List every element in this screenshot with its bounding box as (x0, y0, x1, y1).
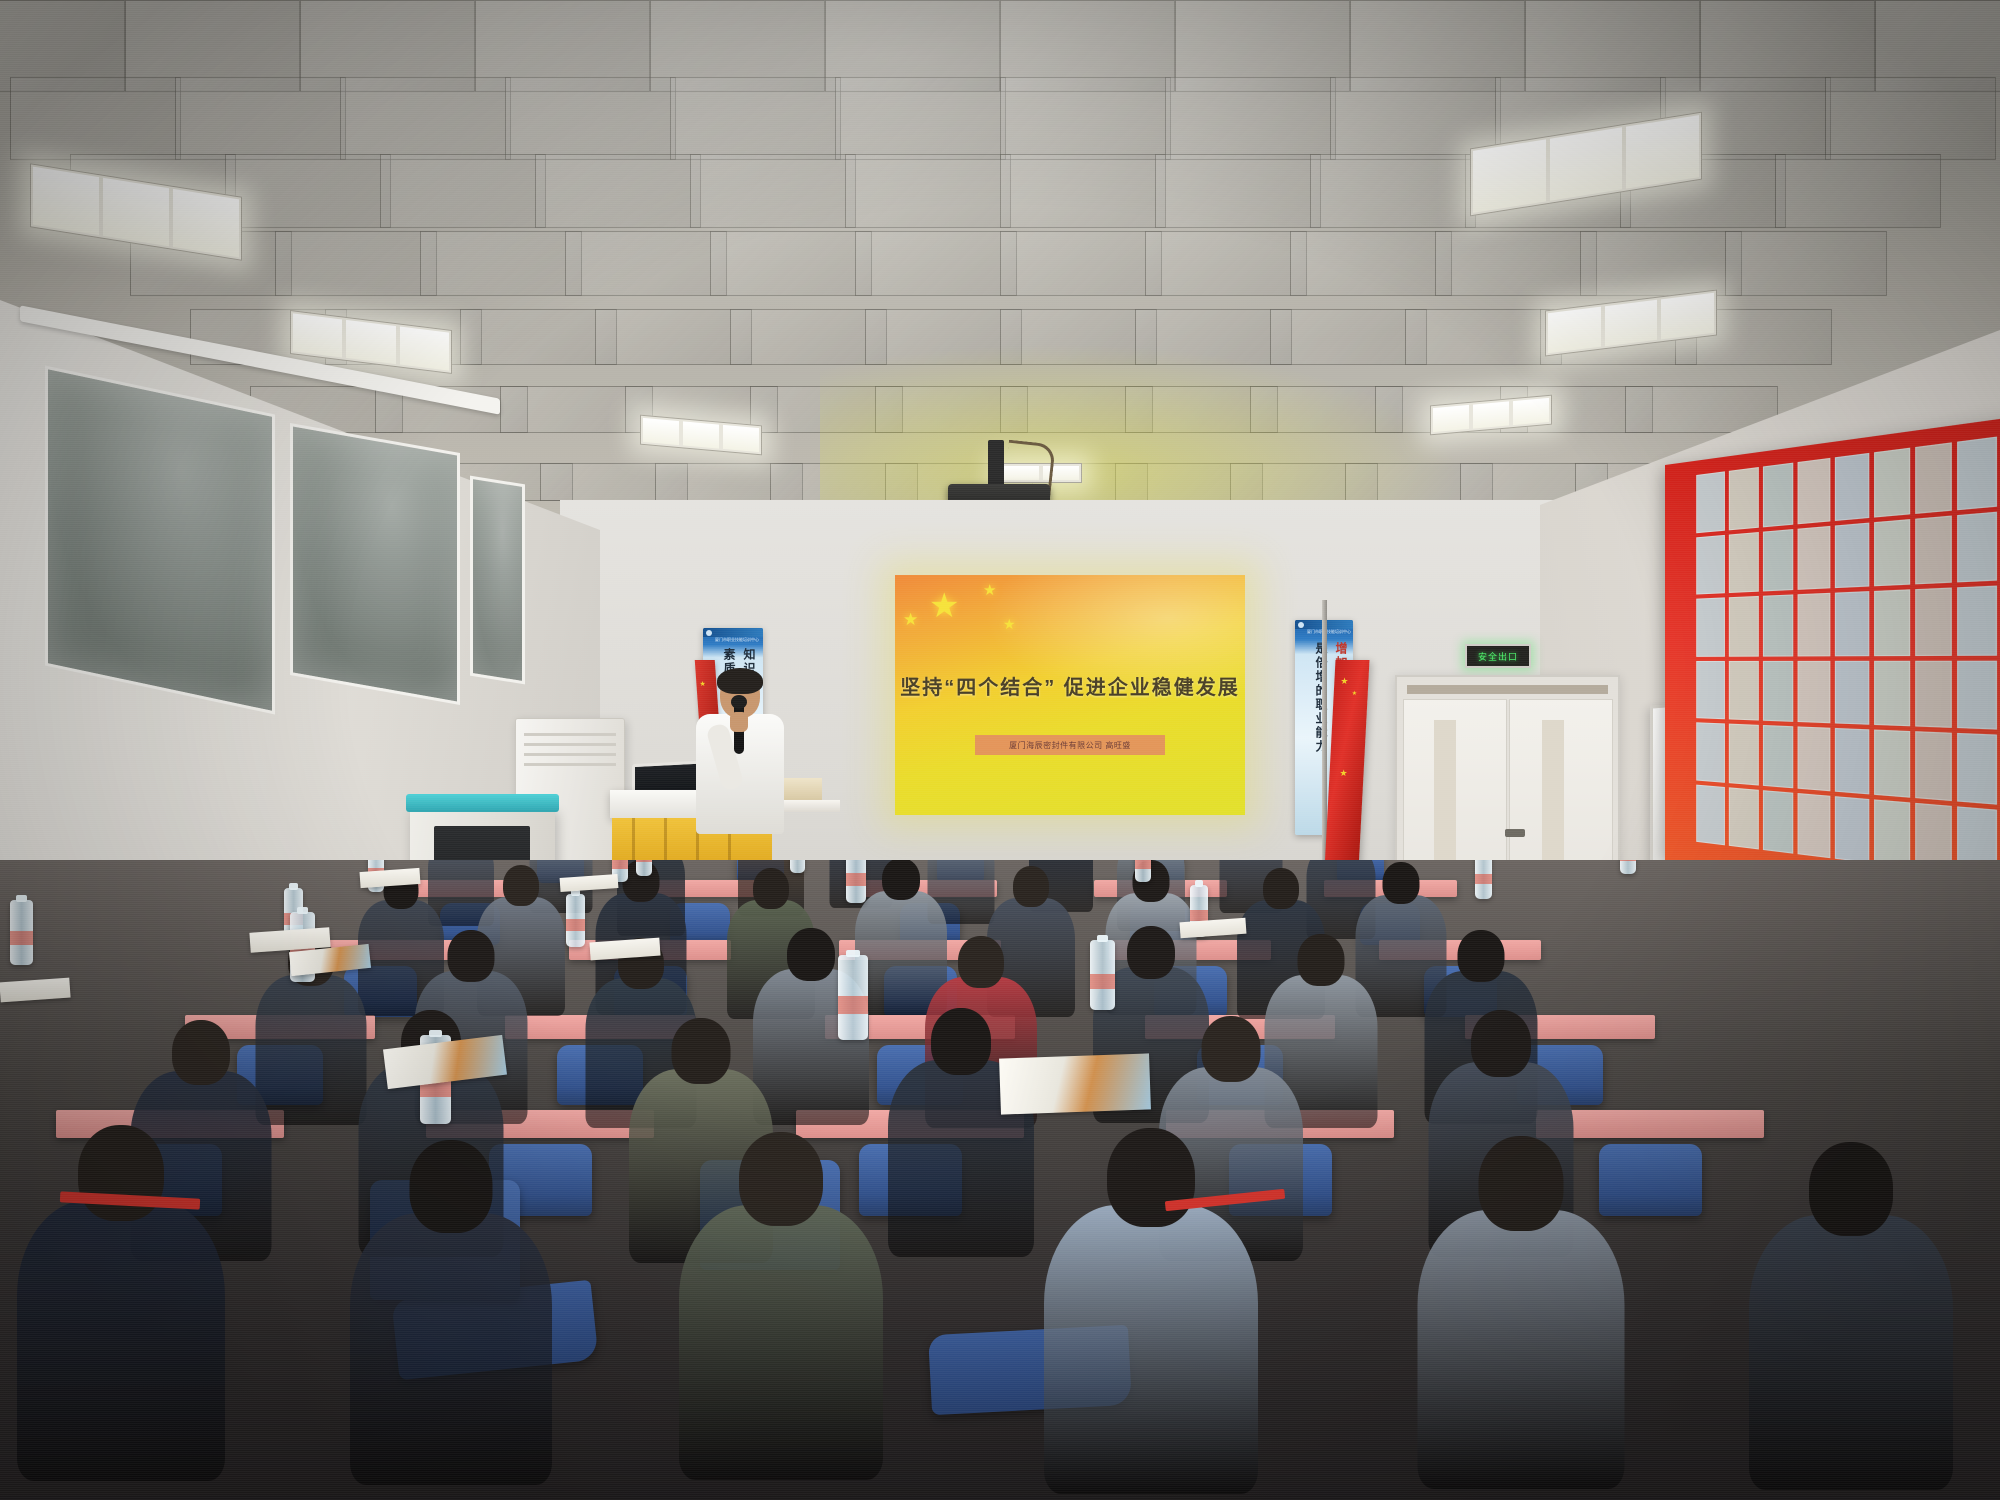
audience-member (1480, 930, 1481, 931)
audience-member (700, 1018, 701, 1019)
ceiling-tile (1165, 77, 1336, 160)
audience-torso (350, 1213, 552, 1485)
photo-cell (1762, 528, 1793, 591)
flag-star-icon: ★ (983, 583, 996, 598)
audience-head (1127, 926, 1175, 979)
ceiling-tile (175, 77, 346, 160)
ceiling-tile (1435, 231, 1597, 296)
audience-torso (17, 1200, 225, 1481)
audience-member (1320, 934, 1321, 935)
photo-cell (1762, 594, 1793, 656)
audience-head (931, 1008, 991, 1075)
ceiling-tile (505, 77, 676, 160)
audience-head (882, 860, 920, 900)
ceiling-tile (835, 77, 1006, 160)
audience-torso (1044, 1205, 1258, 1494)
photo-cell (1696, 471, 1724, 532)
audience-member (430, 1010, 431, 1011)
tablet-arm-chair[interactable] (1599, 1144, 1702, 1216)
ceiling-tile (1000, 77, 1171, 160)
exit-sign: 安全出口 (1465, 644, 1531, 668)
photo-cell (1958, 586, 1998, 656)
banner-logo-icon (706, 630, 712, 636)
ceiling-tile (1270, 309, 1427, 365)
audience-member (1230, 1016, 1231, 1017)
ceiling-tile (1725, 231, 1887, 296)
audience-member (960, 1008, 961, 1009)
ceiling-tile (225, 154, 391, 228)
photo-cell (1835, 660, 1869, 725)
audience-head (1809, 1142, 1893, 1236)
water-bottle[interactable] (790, 860, 805, 873)
presenter-hair (717, 668, 763, 694)
banner-left-header: 厦门市职业技能培训中心 (703, 628, 763, 637)
flag-star-icon: ★ (1352, 690, 1358, 697)
photo-cell (1798, 525, 1831, 590)
ceiling-tile (1135, 309, 1292, 365)
audience-head (958, 936, 1004, 988)
photo-cell (1958, 733, 1998, 804)
dispenser-top-cover (406, 794, 559, 812)
roller-blind[interactable] (45, 366, 275, 715)
photo-cell (1762, 725, 1793, 788)
audience-seating-area (0, 860, 2000, 1500)
handout-paper[interactable] (560, 874, 619, 892)
slide-subtitle-bar: 厦门海辰密封件有限公司 高旺盛 (975, 735, 1165, 755)
audience-member (1400, 862, 1401, 863)
photo-cell (1696, 534, 1724, 594)
water-bottle[interactable] (636, 860, 652, 876)
ceiling-tile (845, 154, 1011, 228)
photo-cell (1835, 522, 1869, 588)
photo-cell (1798, 726, 1831, 790)
photo-cell (1696, 597, 1724, 656)
audience-member (1850, 1142, 1851, 1143)
ceiling-tile (670, 77, 841, 160)
audience-head (753, 868, 789, 909)
audience-member (1030, 866, 1031, 867)
banner-left-header-text: 厦门市职业技能培训中心 (715, 635, 759, 644)
flag-star-icon: ★ (929, 589, 959, 623)
ceiling-tile (340, 77, 511, 160)
audience-member (450, 1140, 451, 1141)
flag-star-icon: ★ (1340, 676, 1349, 687)
photo-cell (1915, 587, 1953, 655)
audience-member (810, 928, 811, 929)
photo-cell (1958, 660, 1998, 730)
photo-cell (1696, 784, 1724, 845)
presenter-hand (730, 712, 748, 732)
photo-cell (1729, 787, 1759, 850)
door-handle[interactable] (1505, 829, 1525, 837)
slide-subtitle: 厦门海辰密封件有限公司 高旺盛 (1009, 740, 1131, 751)
photo-cell (1874, 519, 1910, 587)
photo-cell (1958, 511, 1998, 582)
photo-cell (1874, 799, 1910, 868)
photo-cell (1798, 793, 1831, 859)
photo-cell (1729, 660, 1759, 720)
audience-head (1107, 1128, 1195, 1227)
photo-cell (1835, 796, 1869, 863)
ceiling-tile (1310, 154, 1476, 228)
audience-head (787, 928, 835, 981)
photo-cell (1874, 730, 1910, 798)
audience-head (1457, 930, 1504, 982)
audience-member (1150, 1128, 1151, 1129)
ceiling-tile (1580, 231, 1742, 296)
audience-head (1382, 862, 1419, 904)
photo-cell (1798, 593, 1831, 656)
audience-member (470, 930, 471, 931)
audience-head (1478, 1136, 1563, 1231)
audience-head (1297, 934, 1344, 986)
audience-head (1263, 868, 1299, 909)
audience-torso (255, 975, 366, 1125)
flag-star-icon: ★ (1339, 768, 1348, 779)
ceiling-tile (275, 231, 437, 296)
presenter (690, 672, 786, 832)
audience-member (980, 936, 981, 937)
ceiling-tile (565, 231, 727, 296)
ceiling-tile (710, 231, 872, 296)
ceiling-tile (420, 231, 582, 296)
photo-display-board (1665, 412, 2000, 914)
audience-member (780, 1132, 781, 1133)
audience-member (1150, 926, 1151, 927)
audience-member (1500, 1010, 1501, 1011)
audience-torso (679, 1205, 883, 1480)
audience-torso (1417, 1210, 1624, 1489)
audience-head (1013, 866, 1049, 907)
photo-cell (1915, 515, 1953, 585)
projector-mount (988, 440, 1004, 488)
roller-blind[interactable] (470, 476, 525, 685)
audience-torso (1749, 1215, 1953, 1490)
printed-brochure[interactable] (999, 1053, 1151, 1114)
flag-star-icon: ★ (1003, 617, 1016, 631)
audience-head (1471, 1010, 1531, 1077)
water-bottle[interactable] (838, 955, 868, 1040)
ceiling-tile (1155, 154, 1321, 228)
ceiling-tile (730, 309, 887, 365)
photo-cell (1874, 589, 1910, 655)
audience-member (120, 1125, 121, 1126)
audience-head (671, 1018, 730, 1084)
photo-cell (1729, 467, 1759, 530)
banner-right-header-text: 厦门市职业技能培训中心 (1307, 627, 1351, 636)
audience-member (1520, 1136, 1521, 1137)
water-bottle[interactable] (1620, 860, 1636, 874)
ceiling-tile (460, 309, 617, 365)
ceiling-tile (1000, 231, 1162, 296)
photo-cell (1874, 448, 1910, 517)
ceiling-tile (1825, 77, 1996, 160)
flag-star-icon: ★ (903, 611, 918, 628)
photo-cell (1762, 790, 1793, 854)
audience-head (1201, 1016, 1260, 1082)
photo-cell (1798, 458, 1831, 524)
water-bottle[interactable] (10, 900, 33, 965)
door-header-panel (1407, 685, 1608, 694)
ceiling-tile (865, 309, 1022, 365)
photo-cell (1958, 437, 1998, 510)
photo-cell (1729, 724, 1759, 785)
photo-cell (1729, 596, 1759, 656)
photo-cell (1762, 463, 1793, 527)
audience-member (520, 865, 521, 866)
photo-cell (1696, 660, 1724, 719)
ceiling-tile (10, 77, 181, 160)
water-bottle[interactable] (1090, 940, 1115, 1010)
audience-head (447, 930, 494, 982)
roller-blind[interactable] (290, 423, 460, 705)
ceiling-tile (1775, 154, 1941, 228)
photo-cell (1729, 531, 1759, 593)
photo-cell (1874, 660, 1910, 726)
audience-head (409, 1140, 492, 1233)
water-bottle[interactable] (1135, 860, 1151, 882)
audience-head (172, 1020, 230, 1085)
photo-cell (1915, 442, 1953, 513)
photo-cell (1915, 660, 1953, 728)
photo-cell (1835, 728, 1869, 794)
ceiling-tile (1000, 309, 1157, 365)
photo-cell (1835, 591, 1869, 656)
ceiling-tile (855, 231, 1017, 296)
audience-member (770, 868, 771, 869)
ceiling-tile (380, 154, 546, 228)
audience-head (739, 1132, 823, 1226)
ceiling-tile (1000, 154, 1166, 228)
ceiling-tile (1290, 231, 1452, 296)
banner-logo-icon (1298, 622, 1304, 628)
photo-cell (1696, 722, 1724, 782)
ceiling-tile (690, 154, 856, 228)
water-bottle[interactable] (566, 894, 585, 947)
audience-member (200, 1020, 201, 1021)
handout-paper[interactable] (0, 978, 71, 1003)
water-bottle[interactable] (846, 860, 866, 903)
audience-head (503, 865, 539, 906)
ceiling-tile (535, 154, 701, 228)
seminar-room-photo: ★ ★ ★ ★ 坚持“四个结合” 促进企业稳健发展 厦门海辰密封件有限公司 高旺… (0, 0, 2000, 1500)
ceiling-tile (595, 309, 752, 365)
exit-sign-text: 安全出口 (1478, 650, 1518, 663)
water-bottle[interactable] (1475, 860, 1492, 899)
photo-cell (1835, 453, 1869, 521)
photo-cell (1762, 660, 1793, 722)
ceiling-tile (1145, 231, 1307, 296)
ceiling-tile (1405, 309, 1562, 365)
audience-member (1280, 868, 1281, 869)
photo-cell (1915, 731, 1953, 800)
slide-title: 坚持“四个结合” 促进企业稳健发展 (895, 671, 1245, 700)
projection-screen: ★ ★ ★ ★ 坚持“四个结合” 促进企业稳健发展 厦门海辰密封件有限公司 高旺… (895, 575, 1245, 815)
photo-cell (1798, 660, 1831, 723)
